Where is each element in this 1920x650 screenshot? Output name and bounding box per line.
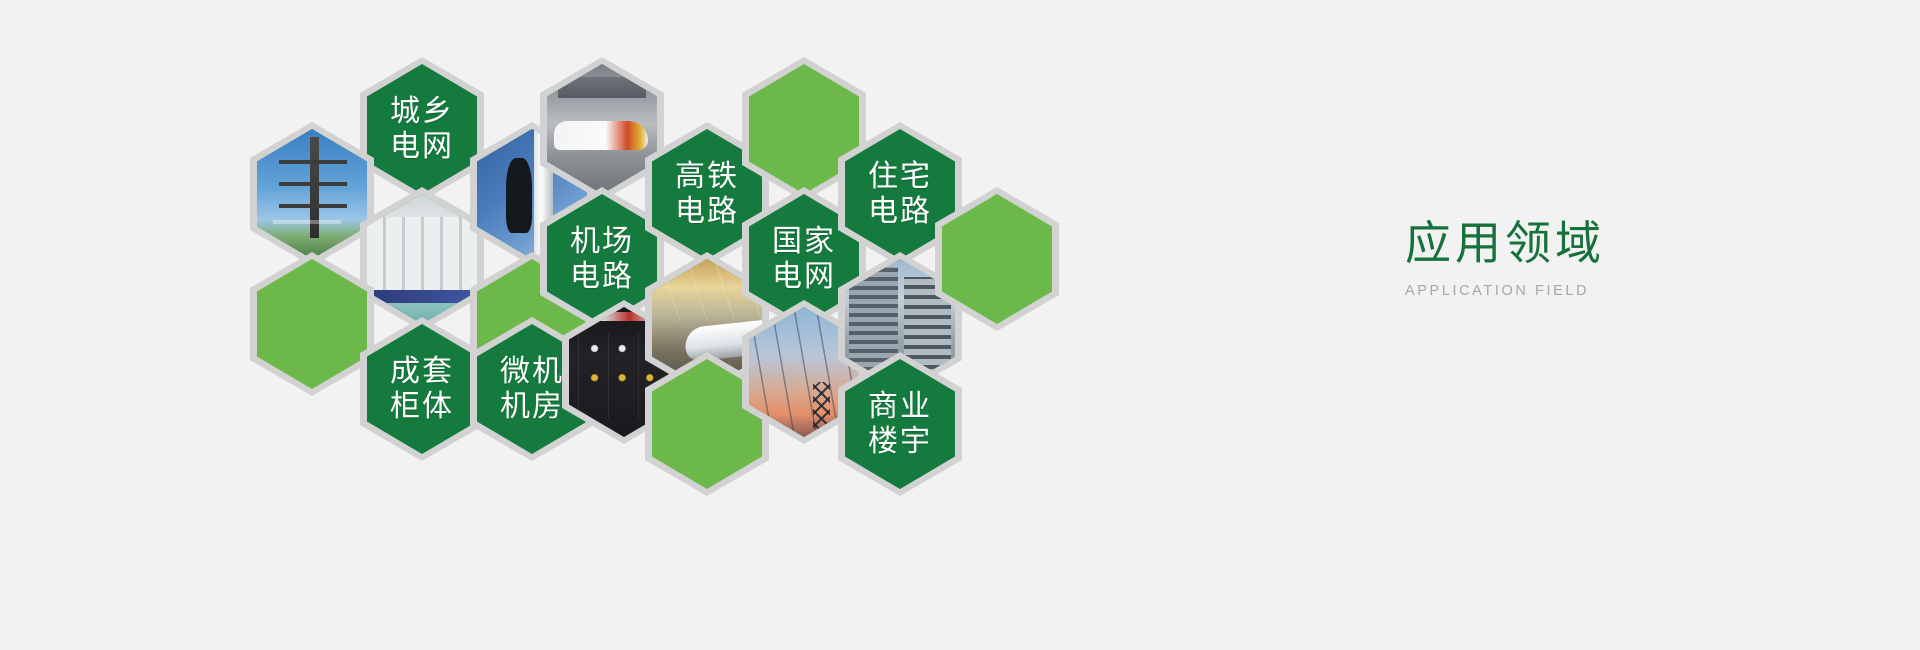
page-title: 应用领域 [1405,218,1825,269]
hexagon-inner [942,194,1052,324]
hexagon-chengxiang-diannnang[interactable]: 城乡 电网 [360,57,484,201]
hexagon-filler-left-mid [250,252,374,396]
application-field-banner: 城乡 电网成套 柜体微机 机房机场 电路高铁 电路国家 电网住宅 电路商业 楼宇… [0,0,1920,650]
hexagon-label: 高铁 电路 [675,159,739,230]
hexagon-chengtao-guiti[interactable]: 成套 柜体 [360,317,484,461]
cabinet-photo [367,194,477,324]
hexagon-photo-utility-pole [250,122,374,266]
hexagon-photo-switchgear [360,187,484,331]
hexagon-inner [257,129,367,259]
hexagon-inner: 机场 电路 [547,194,657,324]
hexagon-label: 商业 楼宇 [868,389,932,460]
hexagon-label: 成套 柜体 [390,354,454,425]
pole-photo [257,129,367,259]
hexagon-label: 机场 电路 [570,224,634,295]
hexagon-inner: 商业 楼宇 [845,359,955,489]
hexagon-label: 国家 电网 [772,224,836,295]
hexagon-label: 微机 机房 [500,354,564,425]
hexagon-inner: 城乡 电网 [367,64,477,194]
airport-photo [547,64,657,194]
hexagon-inner [367,194,477,324]
page-subtitle: APPLICATION FIELD [1405,283,1825,299]
hexagon-inner [547,64,657,194]
hexagon-inner [257,259,367,389]
hexagon-label: 城乡 电网 [390,94,454,165]
hexagon-label: 住宅 电路 [868,159,932,230]
hexagon-inner: 成套 柜体 [367,324,477,454]
heading-block: 应用领域 APPLICATION FIELD [1405,218,1825,299]
